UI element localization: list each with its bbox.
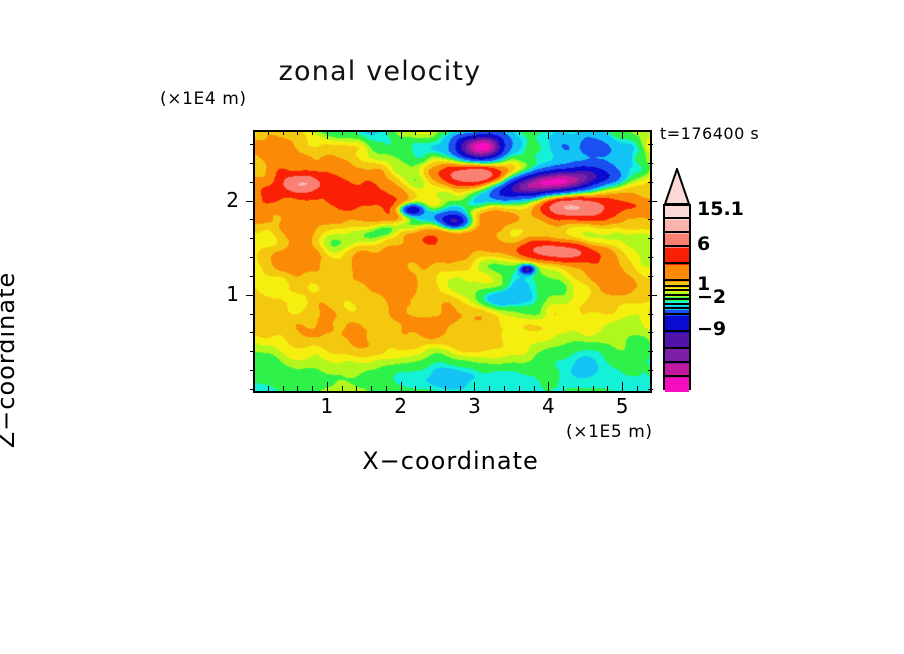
axis-tick <box>489 130 490 135</box>
colorbar-separator <box>663 289 691 291</box>
colorbar-separator <box>663 303 691 305</box>
colorbar-separator <box>663 231 691 233</box>
axis-tick <box>648 182 653 183</box>
axis-tick <box>648 295 657 296</box>
page-title: zonal velocity <box>0 56 760 87</box>
colorbar-tick-label: −9 <box>697 318 726 340</box>
axis-tick <box>342 130 343 135</box>
axis-tick <box>246 201 255 202</box>
axis-tick <box>648 276 653 277</box>
y-tick-label: 1 <box>217 282 239 306</box>
axis-tick <box>534 130 535 135</box>
colorbar-separator <box>663 217 691 219</box>
axis-tick <box>386 130 387 135</box>
axis-tick <box>356 130 357 135</box>
axis-tick <box>250 257 255 258</box>
axis-tick <box>371 386 372 391</box>
axis-tick <box>371 130 372 135</box>
axis-tick <box>268 386 269 391</box>
colorbar-separator <box>663 298 691 300</box>
axis-tick <box>519 130 520 135</box>
axis-tick <box>648 314 653 315</box>
axis-tick <box>593 386 594 391</box>
colorbar-arrow-tip <box>663 168 691 204</box>
axis-tick <box>327 130 328 139</box>
colorbar-separator <box>663 279 691 281</box>
axis-tick <box>563 386 564 391</box>
axis-tick <box>648 219 653 220</box>
axis-tick <box>430 386 431 391</box>
axis-tick <box>578 386 579 391</box>
axis-tick <box>250 276 255 277</box>
x-axis-unit-label: (×1E5 m) <box>566 422 653 442</box>
axis-tick <box>548 382 549 391</box>
colorbar-separator <box>663 313 691 315</box>
axis-tick <box>648 238 653 239</box>
axis-tick <box>430 130 431 135</box>
axis-tick <box>415 386 416 391</box>
axis-tick <box>648 351 653 352</box>
axis-tick <box>460 130 461 135</box>
axis-tick <box>504 386 505 391</box>
axis-tick <box>250 144 255 145</box>
y-axis-unit-label: (×1E4 m) <box>160 89 247 109</box>
axis-tick <box>283 130 284 135</box>
colorbar-tick-label: 15.1 <box>697 198 744 220</box>
axis-tick <box>622 382 623 391</box>
axis-tick <box>445 386 446 391</box>
colorbar-separator <box>663 347 691 349</box>
axis-tick <box>622 130 623 139</box>
x-tick-label: 3 <box>454 394 494 418</box>
axis-tick <box>445 130 446 135</box>
axis-tick <box>250 389 255 390</box>
x-tick-label: 2 <box>381 394 421 418</box>
axis-tick <box>648 332 653 333</box>
axis-tick <box>401 382 402 391</box>
x-axis-title: X−coordinate <box>253 447 648 475</box>
axis-tick <box>648 389 653 390</box>
y-tick-label: 2 <box>217 188 239 212</box>
axis-tick <box>250 238 255 239</box>
axis-tick <box>637 386 638 391</box>
axis-tick <box>250 219 255 220</box>
axis-tick <box>637 130 638 135</box>
axis-tick <box>297 130 298 135</box>
colorbar-separator <box>663 245 691 247</box>
axis-tick <box>607 130 608 135</box>
axis-tick <box>489 386 490 391</box>
axis-tick <box>401 130 402 139</box>
axis-tick <box>250 182 255 183</box>
x-tick-label: 4 <box>528 394 568 418</box>
axis-tick <box>504 130 505 135</box>
axis-tick <box>283 386 284 391</box>
colorbar-band <box>665 378 689 392</box>
colorbar-separator <box>663 262 691 264</box>
axis-tick <box>312 130 313 135</box>
axis-tick <box>593 130 594 135</box>
axis-tick <box>342 386 343 391</box>
colorbar-separator <box>663 330 691 332</box>
colorbar-separator <box>663 285 691 287</box>
axis-tick <box>356 386 357 391</box>
axis-tick <box>386 386 387 391</box>
axis-tick <box>648 370 653 371</box>
colorbar-separator <box>663 307 691 309</box>
colorbar-separator <box>663 361 691 363</box>
figure-canvas: zonal velocity (×1E4 m) t=176400 s 12345… <box>0 0 904 654</box>
axis-tick <box>578 130 579 135</box>
axis-tick <box>327 382 328 391</box>
colorbar-tick-label: 6 <box>697 233 710 255</box>
axis-tick <box>474 382 475 391</box>
axis-tick <box>563 130 564 135</box>
axis-tick <box>415 130 416 135</box>
axis-tick <box>250 314 255 315</box>
axis-tick <box>268 130 269 135</box>
colorbar-tick-label: −2 <box>697 286 726 308</box>
y-axis-title: Z−coordinate <box>0 150 20 570</box>
axis-tick <box>250 332 255 333</box>
axis-tick <box>548 130 549 139</box>
timestamp-label: t=176400 s <box>660 124 759 143</box>
plot-area <box>253 130 652 393</box>
axis-tick <box>648 201 657 202</box>
x-tick-label: 5 <box>602 394 642 418</box>
axis-tick <box>607 386 608 391</box>
axis-tick <box>648 144 653 145</box>
axis-tick <box>250 163 255 164</box>
colorbar-separator <box>663 294 691 296</box>
colorbar-separator <box>663 375 691 377</box>
axis-tick <box>534 386 535 391</box>
axis-tick <box>648 257 653 258</box>
axis-tick <box>246 295 255 296</box>
axis-tick <box>648 163 653 164</box>
axis-tick <box>297 386 298 391</box>
axis-tick <box>253 130 254 135</box>
axis-tick <box>460 386 461 391</box>
x-tick-label: 1 <box>307 394 347 418</box>
axis-tick <box>312 386 313 391</box>
axis-tick <box>250 351 255 352</box>
contour-field <box>255 132 650 391</box>
axis-tick <box>250 370 255 371</box>
axis-tick <box>519 386 520 391</box>
axis-tick <box>474 130 475 139</box>
